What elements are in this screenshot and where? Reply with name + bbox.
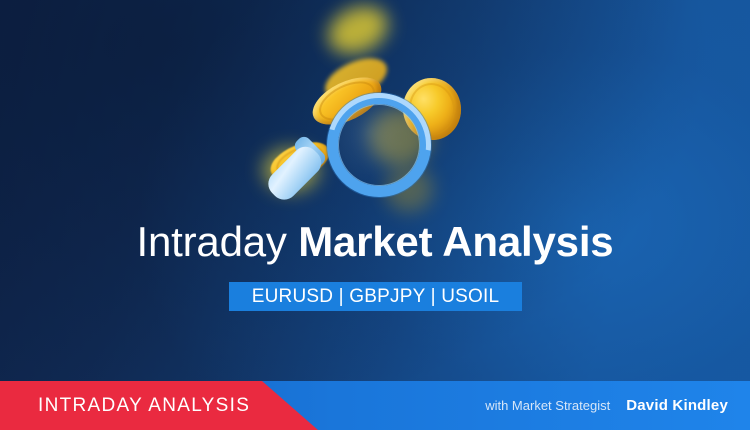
instrument-pairs-badge: EURUSD | GBPJPY | USOIL [229, 282, 522, 311]
analyst-name-label: David Kindley [626, 397, 728, 414]
title-bold-part: Market Analysis [298, 218, 613, 265]
instrument-pairs-label: EURUSD | GBPJPY | USOIL [252, 286, 499, 308]
intraday-analysis-banner: Intraday Market Analysis EURUSD | GBPJPY… [0, 0, 750, 430]
bottom-bar: INTRADAY ANALYSIS with Market Strategist… [0, 381, 750, 430]
analyst-role-label: with Market Strategist [485, 398, 610, 413]
title-light-part: Intraday [137, 218, 299, 265]
section-label: INTRADAY ANALYSIS [38, 381, 250, 430]
analyst-credit: with Market Strategist David Kindley [485, 381, 728, 430]
magnifier-coins-illustration [285, 0, 495, 205]
blurred-coin-icon [321, 0, 396, 63]
page-title: Intraday Market Analysis [0, 218, 750, 266]
